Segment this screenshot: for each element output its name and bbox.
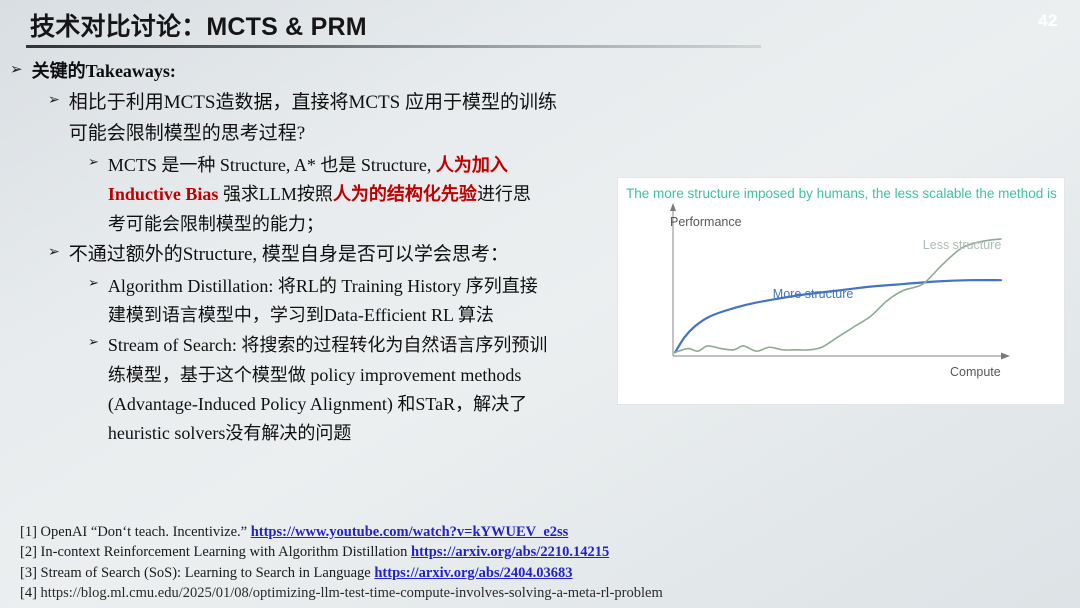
- bullet-arrow-icon: ➢: [48, 91, 60, 110]
- bullet-level3-text: Algorithm Distillation: 将RL的 Training Hi…: [108, 272, 640, 331]
- reference-number: [2]: [20, 544, 37, 560]
- bullet-arrow-icon: ➢: [48, 243, 60, 262]
- b2s2-line4: heuristic solvers没有解决的问题: [108, 423, 351, 443]
- reference-item: [3] Stream of Search (SoS): Learning to …: [20, 563, 810, 584]
- page-title: 技术对比讨论：MCTS & PRM: [30, 7, 367, 43]
- bullet-level3-inductive-bias: ➢ MCTS 是一种 Structure, A* 也是 Structure, 人…: [0, 151, 640, 239]
- reference-link[interactable]: https://www.youtube.com/watch?v=kYWUEV_e…: [251, 524, 569, 540]
- reference-link[interactable]: https://arxiv.org/abs/2404.03683: [374, 565, 572, 581]
- structure-scalability-chart: The more structure imposed by humans, th…: [618, 178, 1064, 404]
- series-label-more-structure: More structure: [773, 287, 854, 301]
- chart-svg: Performance Compute More structure Less …: [618, 178, 1064, 404]
- reference-number: [3]: [20, 565, 37, 581]
- reference-text: In-context Reinforcement Learning with A…: [41, 544, 408, 560]
- b1s1-red1: 人为加入: [436, 155, 508, 175]
- y-axis-label: Performance: [670, 215, 742, 229]
- bullet-level3-algorithm-distillation: ➢ Algorithm Distillation: 将RL的 Training …: [0, 272, 640, 331]
- title-divider: [26, 45, 761, 48]
- b2s2-line1: Stream of Search: 将搜索的过程转化为自然语言序列预训: [108, 335, 547, 355]
- bullet-b1-line2: 可能会限制模型的思考过程?: [69, 123, 305, 144]
- x-axis-arrow-icon: [1001, 353, 1010, 360]
- reference-url-plain[interactable]: https://blog.ml.cmu.edu/2025/01/08/optim…: [41, 585, 663, 601]
- reference-text: OpenAI “Don‘t teach. Incentivize.”: [41, 524, 248, 540]
- b2s2-line3: (Advantage-Induced Policy Alignment) 和ST…: [108, 394, 527, 414]
- b1s1-part3: 进行思: [477, 184, 531, 204]
- bullet-arrow-icon: ➢: [88, 334, 99, 352]
- reference-text: Stream of Search (SoS): Learning to Sear…: [41, 565, 371, 581]
- bullet-b1-line1: 相比于利用MCTS造数据，直接将MCTS 应用于模型的训练: [69, 92, 557, 113]
- b2s1-line2: 建模到语言模型中，学习到Data-Efficient RL 算法: [108, 305, 494, 325]
- reference-item: [2] In-context Reinforcement Learning wi…: [20, 542, 810, 563]
- bullet-level2-no-extra-structure: ➢ 不通过额外的Structure, 模型自身是否可以学会思考：: [0, 240, 640, 271]
- slide-body: ➢ 关键的Takeaways: ➢ 相比于利用MCTS造数据，直接将MCTS 应…: [0, 58, 640, 450]
- reference-number: [1]: [20, 524, 37, 540]
- reference-item: [4] https://blog.ml.cmu.edu/2025/01/08/o…: [20, 583, 810, 604]
- b1s1-part1: MCTS 是一种 Structure, A* 也是 Structure,: [108, 155, 436, 175]
- series-label-less-structure: Less structure: [923, 238, 1002, 252]
- reference-list: [1] OpenAI “Don‘t teach. Incentivize.” h…: [20, 522, 810, 604]
- bullet-l1-suffix: Takeaways:: [86, 61, 176, 81]
- bullet-level3-text: MCTS 是一种 Structure, A* 也是 Structure, 人为加…: [108, 151, 640, 239]
- bullet-arrow-icon: ➢: [10, 59, 23, 79]
- bullet-level1-label: 关键的Takeaways:: [32, 58, 640, 85]
- x-axis-label: Compute: [950, 365, 1001, 379]
- b2s1-line1: Algorithm Distillation: 将RL的 Training Hi…: [108, 276, 538, 296]
- bullet-level3-stream-of-search: ➢ Stream of Search: 将搜索的过程转化为自然语言序列预训 练模…: [0, 331, 640, 448]
- b1s1-part4: 考可能会限制模型的能力；: [108, 214, 324, 234]
- reference-item: [1] OpenAI “Don‘t teach. Incentivize.” h…: [20, 522, 810, 543]
- y-axis-arrow-icon: [670, 203, 676, 211]
- bullet-level2-text: 相比于利用MCTS造数据，直接将MCTS 应用于模型的训练 可能会限制模型的思考…: [69, 88, 640, 150]
- bullet-arrow-icon: ➢: [88, 154, 99, 172]
- reference-number: [4]: [20, 585, 37, 601]
- bullet-l1-prefix: 关键的: [32, 61, 86, 81]
- bullet-level2-mcts-training: ➢ 相比于利用MCTS造数据，直接将MCTS 应用于模型的训练 可能会限制模型的…: [0, 88, 640, 150]
- bullet-arrow-icon: ➢: [88, 275, 99, 293]
- reference-link[interactable]: https://arxiv.org/abs/2210.14215: [411, 544, 609, 560]
- bullet-level1-takeaways: ➢ 关键的Takeaways:: [0, 58, 640, 85]
- b1s1-red2: Inductive Bias: [108, 184, 219, 204]
- b1s1-part2: 强求LLM按照: [218, 184, 333, 204]
- slide-number: 42: [1038, 11, 1058, 31]
- b2s2-line2: 练模型，基于这个模型做 policy improvement methods: [108, 365, 521, 385]
- bullet-b2-line1: 不通过额外的Structure, 模型自身是否可以学会思考：: [69, 240, 640, 271]
- b1s1-red3: 人为的结构化先验: [333, 184, 477, 204]
- bullet-level3-text: Stream of Search: 将搜索的过程转化为自然语言序列预训 练模型，…: [108, 331, 640, 448]
